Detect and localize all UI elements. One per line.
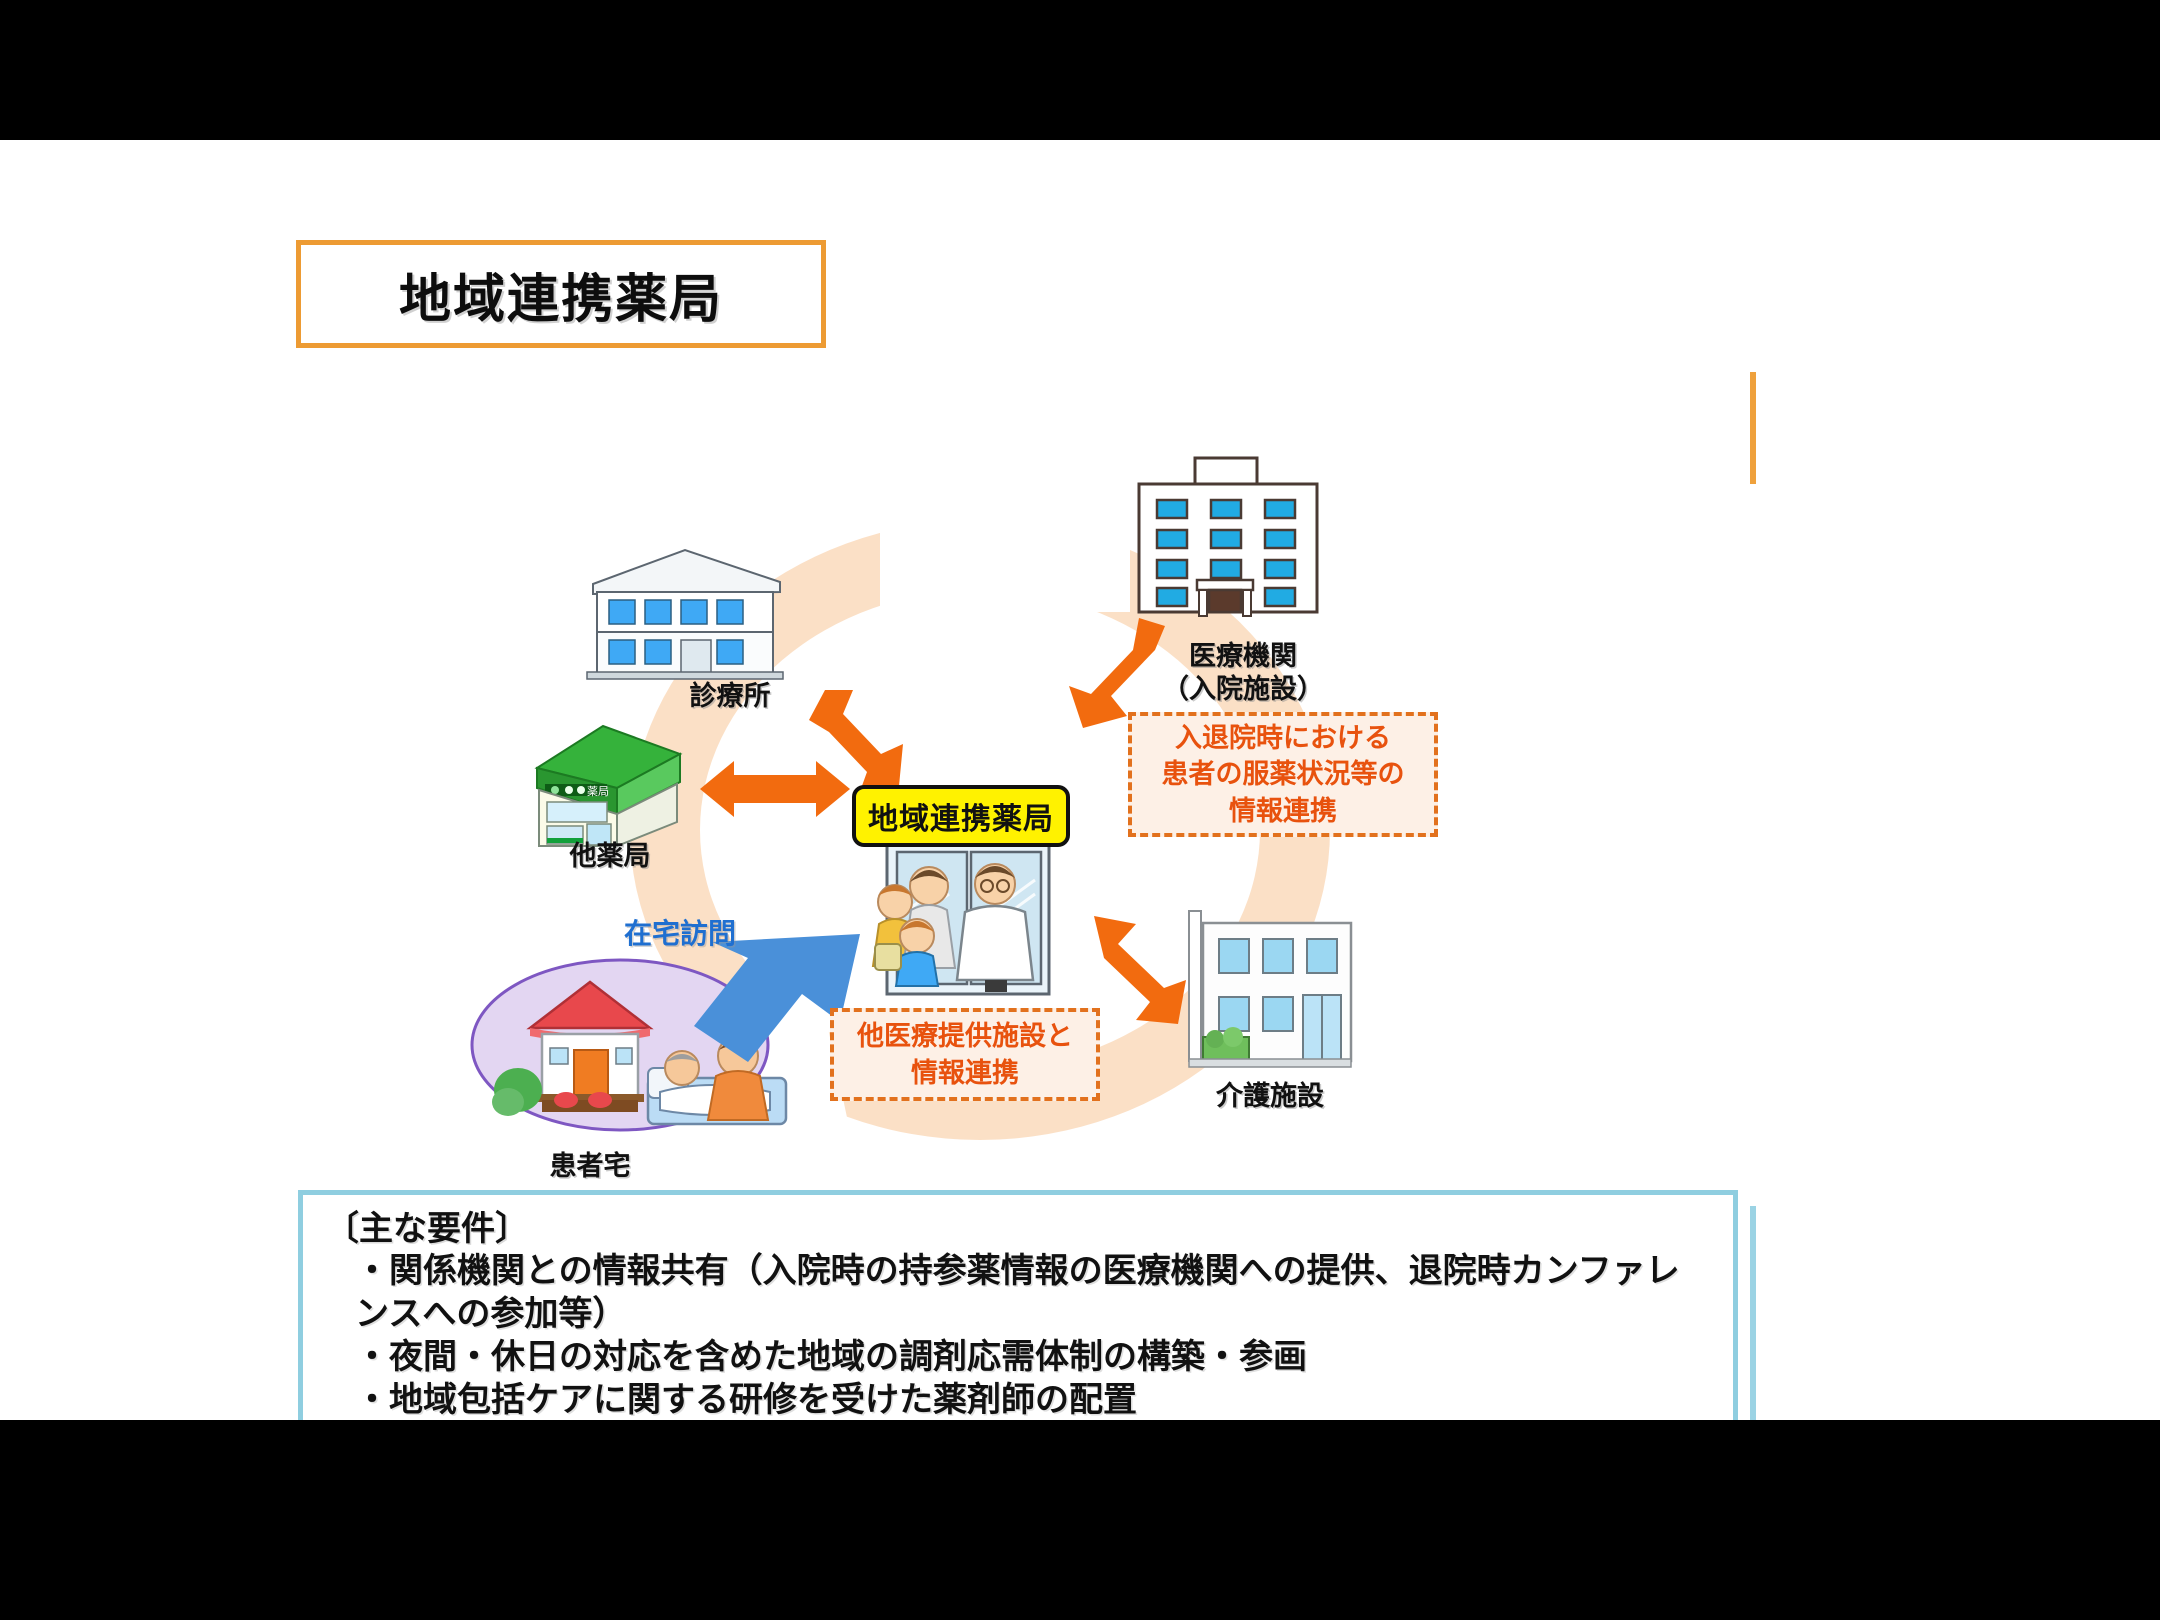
decorative-blue-rule bbox=[1750, 1206, 1756, 1420]
ring-gap-top bbox=[880, 492, 1130, 612]
community-pharmacy-storefront-illustration bbox=[845, 840, 1080, 1015]
care-facility-illustration bbox=[1175, 905, 1365, 1070]
slide-canvas: 地域連携薬局 診療所 薬局 他薬局 bbox=[0, 140, 2160, 1420]
node-label-care-facility: 介護施設 bbox=[1180, 1080, 1360, 1113]
page-title: 地域連携薬局 bbox=[399, 257, 723, 332]
requirements-box: 〔主な要件〕 ・関係機関との情報共有（入院時の持参薬情報の医療機関への提供、退院… bbox=[298, 1190, 1738, 1420]
arrow-other-pharmacy-pharmacy bbox=[700, 755, 850, 823]
requirements-heading: 〔主な要件〕 bbox=[325, 1209, 1711, 1250]
other-pharmacy-illustration: 薬局 bbox=[525, 710, 690, 855]
requirement-item: ・地域包括ケアに関する研修を受けた薬剤師の配置 bbox=[355, 1379, 1711, 1420]
callout-hospital-link: 入退院時における 患者の服薬状況等の 情報連携 bbox=[1128, 712, 1438, 837]
svg-text:薬局: 薬局 bbox=[587, 785, 609, 798]
center-node-badge: 地域連携薬局 bbox=[852, 785, 1070, 847]
home-visit-label: 在宅訪問 bbox=[600, 912, 760, 952]
requirement-item: ・夜間・休日の対応を含めた地域の調剤応需体制の構築・参画 bbox=[355, 1336, 1711, 1379]
slide-title-box: 地域連携薬局 bbox=[296, 240, 826, 348]
node-label-other-pharmacy: 他薬局 bbox=[535, 840, 685, 873]
callout-other-facility-link: 他医療提供施設と 情報連携 bbox=[830, 1008, 1100, 1101]
decorative-orange-rule bbox=[1750, 372, 1756, 484]
node-label-clinic: 診療所 bbox=[655, 680, 805, 713]
hospital-illustration bbox=[1125, 452, 1330, 622]
center-node-label: 地域連携薬局 bbox=[868, 794, 1054, 838]
callout-other-facility-link-text: 他医療提供施設と 情報連携 bbox=[857, 1018, 1073, 1090]
requirement-item: ・関係機関との情報共有（入院時の持参薬情報の医療機関への提供、退院時カンファレン… bbox=[355, 1250, 1711, 1336]
node-label-patient-home: 患者宅 bbox=[500, 1150, 680, 1183]
clinic-illustration bbox=[575, 532, 795, 682]
callout-hospital-link-text: 入退院時における 患者の服薬状況等の 情報連携 bbox=[1162, 720, 1405, 829]
